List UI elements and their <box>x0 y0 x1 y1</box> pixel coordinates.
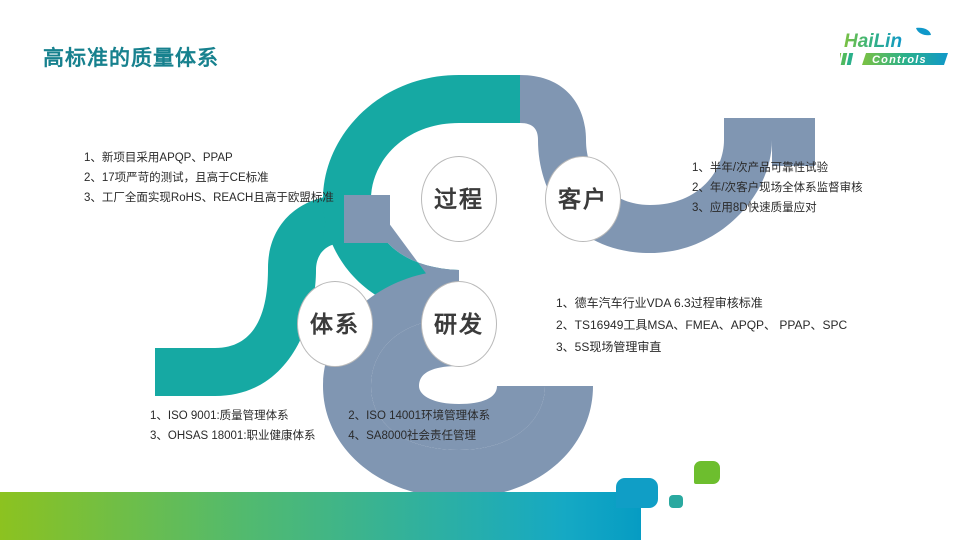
slide-canvas: 高标准的质量体系 HaiLin <box>0 0 960 540</box>
text-line: 1、新项目采用APQP、PPAP <box>84 148 334 168</box>
text-line: 2、年/次客户现场全体系监督审核 <box>692 178 863 198</box>
page-title: 高标准的质量体系 <box>43 42 219 72</box>
decor-teal-square <box>669 495 683 508</box>
decor-blue-square <box>616 478 658 508</box>
text-row: 1、ISO 9001:质量管理体系 2、ISO 14001环境管理体系 <box>150 406 490 426</box>
ribbon-blue-system-cap <box>344 195 390 243</box>
logo-bar-2 <box>841 53 848 65</box>
text-cell: 1、ISO 9001:质量管理体系 <box>150 406 345 426</box>
text-block-mid-right: 1、德车汽车行业VDA 6.3过程审核标准 2、TS16949工具MSA、FME… <box>556 292 847 358</box>
node-process[interactable]: 过程 <box>421 156 497 242</box>
node-rd-label: 研发 <box>434 313 484 336</box>
text-line: 1、德车汽车行业VDA 6.3过程审核标准 <box>556 292 847 314</box>
node-customer[interactable]: 客户 <box>545 156 621 242</box>
logo-brand-text: HaiLin <box>844 31 902 52</box>
process-ribbon-diagram <box>0 0 960 540</box>
text-line: 3、应用8D快速质量应对 <box>692 198 863 218</box>
logo-bar-3 <box>847 53 854 65</box>
logo-svg: HaiLin Controls <box>840 26 952 70</box>
text-line: 3、5S现场管理审直 <box>556 336 847 358</box>
decor-green-square <box>694 461 720 484</box>
node-rd[interactable]: 研发 <box>421 281 497 367</box>
text-line: 2、17项严苛的测试，且高于CE标准 <box>84 168 334 188</box>
text-cell: 2、ISO 14001环境管理体系 <box>348 406 490 426</box>
text-cell: 4、SA8000社会责任管理 <box>348 426 476 446</box>
text-block-top-left: 1、新项目采用APQP、PPAP 2、17项严苛的测试，且高于CE标准 3、工厂… <box>84 148 334 208</box>
text-line: 3、工厂全面实现RoHS、REACH且高于欧盟标准 <box>84 188 334 208</box>
text-line: 2、TS16949工具MSA、FMEA、APQP、 PPAP、SPC <box>556 314 847 336</box>
logo-subtitle-text: Controls <box>872 54 927 66</box>
node-system[interactable]: 体系 <box>297 281 373 367</box>
text-block-top-right: 1、半年/次产品可靠性试验 2、年/次客户现场全体系监督审核 3、应用8D快速质… <box>692 158 863 218</box>
text-cell: 3、OHSAS 18001:职业健康体系 <box>150 426 345 446</box>
text-block-bottom: 1、ISO 9001:质量管理体系 2、ISO 14001环境管理体系 3、OH… <box>150 406 490 446</box>
node-customer-label: 客户 <box>558 188 608 211</box>
node-system-label: 体系 <box>310 313 360 336</box>
text-row: 3、OHSAS 18001:职业健康体系 4、SA8000社会责任管理 <box>150 426 490 446</box>
logo-bar-1 <box>840 53 841 65</box>
ribbon-teal-crest <box>459 75 520 123</box>
text-line: 1、半年/次产品可靠性试验 <box>692 158 863 178</box>
footer-gradient-bar <box>0 492 641 540</box>
node-process-label: 过程 <box>434 188 484 211</box>
leaf-icon <box>916 28 931 35</box>
hailin-logo: HaiLin Controls <box>840 26 952 70</box>
